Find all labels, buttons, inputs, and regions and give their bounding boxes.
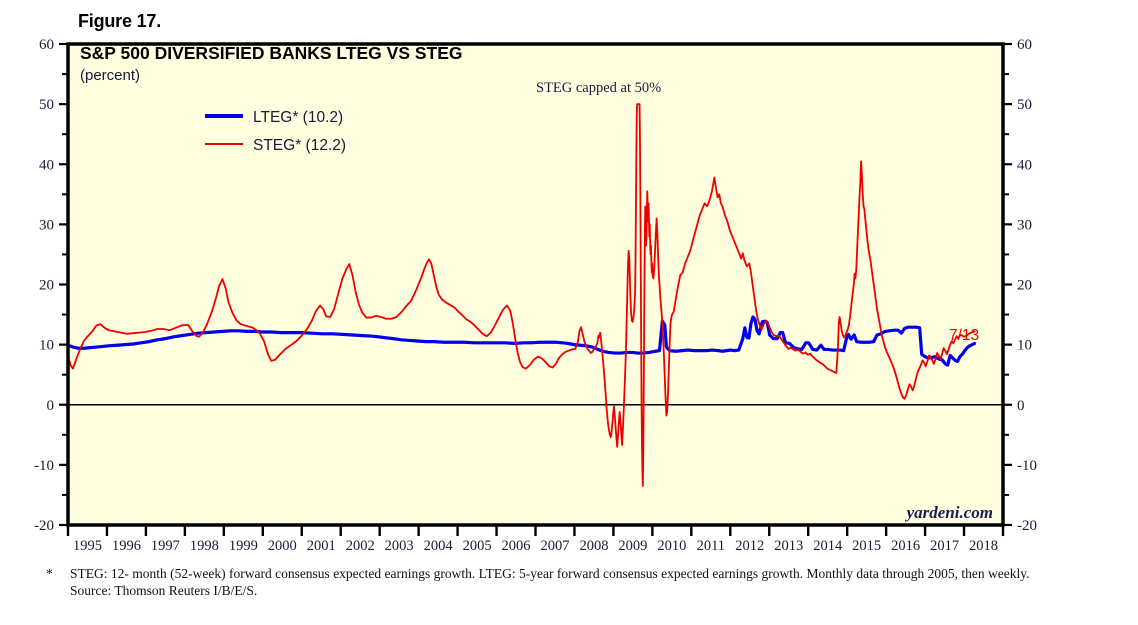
figure-label: Figure 17.: [78, 11, 161, 32]
end-value-label: 7/13: [949, 327, 979, 344]
y-tick-label-left: 10: [39, 338, 54, 354]
footnote-source: Source: Thomson Reuters I/B/E/S.: [70, 583, 1106, 600]
x-tick-label: 2005: [463, 538, 492, 554]
y-tick-label-left: 0: [47, 398, 55, 414]
x-tick-label: 2004: [424, 538, 454, 554]
x-tick-label: 2009: [618, 538, 647, 554]
annotation-steg-cap: STEG capped at 50%: [536, 80, 661, 96]
x-tick-label: 2007: [540, 538, 569, 554]
chart-container: -20-100102030405060 -20-100102030405060 …: [0, 30, 1138, 560]
x-tick-label: 2003: [385, 538, 414, 554]
y-tick-label-left: -20: [34, 518, 54, 534]
y-tick-label-right: 0: [1017, 398, 1025, 414]
y-tick-label-left: 30: [39, 217, 54, 233]
watermark: yardeni.com: [905, 503, 993, 522]
x-tick-label: 2002: [346, 538, 375, 554]
x-tick-label: 1995: [73, 538, 102, 554]
y-tick-label-right: 60: [1017, 37, 1032, 53]
y-tick-label-right: 10: [1017, 338, 1032, 354]
y-axis-left: -20-100102030405060: [34, 37, 68, 534]
footnote-star: *: [46, 566, 64, 583]
x-tick-label: 2006: [502, 538, 531, 554]
legend-label: LTEG* (10.2): [253, 109, 343, 126]
y-tick-label-left: 60: [39, 37, 54, 53]
chart-svg: -20-100102030405060 -20-100102030405060 …: [0, 30, 1138, 560]
x-tick-label: 2017: [930, 538, 959, 554]
x-tick-label: 1999: [229, 538, 258, 554]
x-tick-label: 2000: [268, 538, 297, 554]
y-tick-label-left: 50: [39, 97, 54, 113]
x-tick-label: 2010: [657, 538, 686, 554]
y-tick-label-right: -20: [1017, 518, 1037, 534]
y-tick-label-right: 40: [1017, 157, 1032, 173]
footnote: * STEG: 12- month (52-week) forward cons…: [46, 566, 1106, 600]
y-tick-label-right: 20: [1017, 278, 1032, 294]
footnote-body: STEG: 12- month (52-week) forward consen…: [70, 566, 1106, 583]
x-axis: 1995199619971998199920002001200220032004…: [68, 525, 1003, 554]
x-tick-label: 2013: [774, 538, 803, 554]
x-tick-label: 2012: [735, 538, 764, 554]
y-tick-label-right: -10: [1017, 458, 1037, 474]
legend-label: STEG* (12.2): [253, 137, 346, 154]
x-tick-label: 2001: [307, 538, 336, 554]
y-tick-label-right: 50: [1017, 97, 1032, 113]
x-tick-label: 2015: [852, 538, 881, 554]
y-axis-right: -20-100102030405060: [1003, 37, 1037, 534]
y-tick-label-left: 40: [39, 157, 54, 173]
y-tick-label-right: 30: [1017, 217, 1032, 233]
x-tick-label: 2011: [697, 538, 725, 554]
y-tick-label-left: -10: [34, 458, 54, 474]
x-tick-label: 1997: [151, 538, 180, 554]
x-tick-label: 2014: [813, 538, 843, 554]
chart-title: S&P 500 DIVERSIFIED BANKS LTEG VS STEG: [80, 43, 463, 63]
y-tick-label-left: 20: [39, 278, 54, 294]
x-tick-label: 1996: [112, 538, 141, 554]
chart-subtitle: (percent): [80, 67, 140, 84]
x-tick-label: 2008: [579, 538, 608, 554]
x-tick-label: 2018: [969, 538, 998, 554]
x-tick-label: 1998: [190, 538, 219, 554]
x-tick-label: 2016: [891, 538, 920, 554]
